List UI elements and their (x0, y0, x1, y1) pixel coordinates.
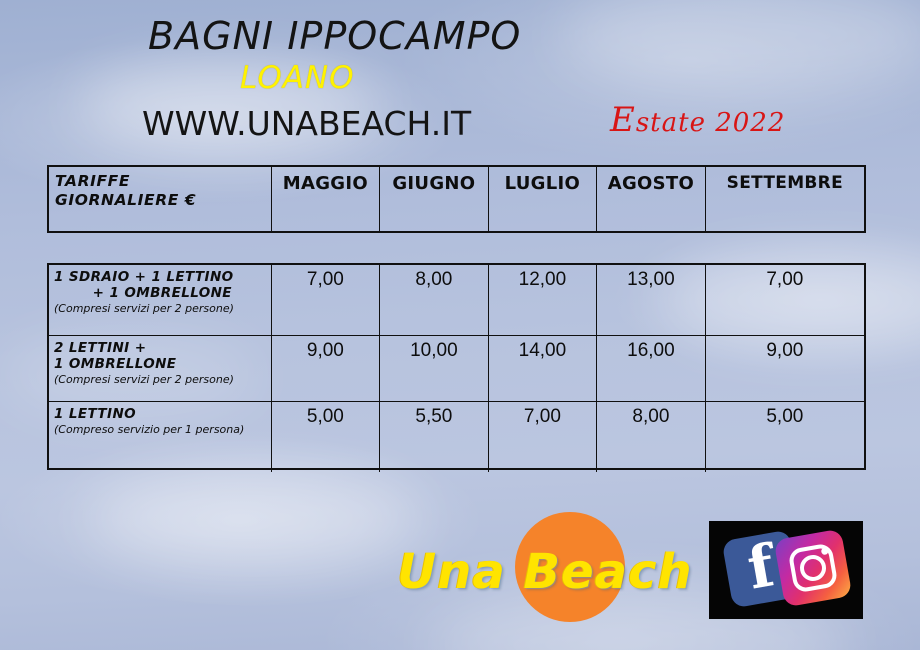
price-cell: 9,00 (271, 335, 380, 401)
header-cell-luglio: LUGLIO (488, 167, 597, 231)
price-value: 16,00 (597, 336, 705, 362)
season-rest: state 2022 (636, 108, 786, 138)
header-label-line1: TARIFFE (55, 172, 271, 191)
row-label-cell: 1 LETTINO (Compreso servizio per 1 perso… (49, 401, 271, 472)
header-label-line2: GIORNALIERE € (55, 191, 271, 210)
row-title-line1: 1 SDRAIO + 1 LETTINO (54, 269, 271, 285)
price-cell: 8,00 (597, 401, 706, 472)
poster-background: BAGNI IPPOCAMPO LOANO WWW.UNABEACH.IT Es… (0, 0, 920, 650)
table-row: 1 LETTINO (Compreso servizio per 1 perso… (49, 401, 864, 472)
price-value: 5,00 (706, 402, 864, 428)
price-value: 7,00 (489, 402, 597, 428)
month-label: MAGGIO (272, 167, 380, 194)
row-title-line2: + 1 OMBRELLONE (54, 285, 271, 301)
price-cell: 7,00 (271, 265, 380, 335)
una-beach-logo: Una Beach (395, 512, 695, 627)
price-cell: 9,00 (705, 335, 864, 401)
price-value: 8,00 (597, 402, 705, 428)
price-cell: 7,00 (488, 401, 597, 472)
month-label: AGOSTO (597, 167, 705, 194)
price-cell: 12,00 (488, 265, 597, 335)
month-label: LUGLIO (489, 167, 597, 194)
season-initial: E (610, 100, 636, 140)
row-title-line1: 1 LETTINO (54, 406, 271, 422)
tariff-table-header: TARIFFE GIORNALIERE € MAGGIO GIUGNO LUGL… (47, 165, 866, 233)
row-title-line2: 1 OMBRELLONE (54, 356, 271, 372)
price-value: 12,00 (489, 265, 597, 291)
row-label-cell: 2 LETTINI + 1 OMBRELLONE (Compresi servi… (49, 335, 271, 401)
row-note: (Compresi servizi per 2 persone) (54, 302, 271, 316)
price-cell: 16,00 (597, 335, 706, 401)
price-cell: 10,00 (380, 335, 489, 401)
price-cell: 14,00 (488, 335, 597, 401)
price-value: 9,00 (272, 336, 380, 362)
header-cell-label: TARIFFE GIORNALIERE € (49, 167, 271, 231)
price-cell: 7,00 (705, 265, 864, 335)
table-row: 1 SDRAIO + 1 LETTINO + 1 OMBRELLONE (Com… (49, 265, 864, 335)
header-cell-maggio: MAGGIO (271, 167, 380, 231)
row-label-cell: 1 SDRAIO + 1 LETTINO + 1 OMBRELLONE (Com… (49, 265, 271, 335)
instagram-glyph-icon[interactable] (774, 529, 853, 608)
price-cell: 5,00 (271, 401, 380, 472)
month-label: GIUGNO (380, 167, 488, 194)
price-value: 9,00 (706, 336, 864, 362)
table-header-row: TARIFFE GIORNALIERE € MAGGIO GIUGNO LUGL… (49, 167, 864, 231)
social-icons-panel[interactable]: f (709, 521, 863, 619)
price-value: 5,50 (380, 402, 488, 428)
month-label: SETTEMBRE (706, 167, 864, 193)
price-cell: 8,00 (380, 265, 489, 335)
header-cell-settembre: SETTEMBRE (705, 167, 864, 231)
row-title-line1: 2 LETTINI + (54, 340, 271, 356)
price-value: 14,00 (489, 336, 597, 362)
price-cell: 13,00 (597, 265, 706, 335)
price-cell: 5,50 (380, 401, 489, 472)
price-value: 7,00 (706, 265, 864, 291)
price-value: 8,00 (380, 265, 488, 291)
table-row: 2 LETTINI + 1 OMBRELLONE (Compresi servi… (49, 335, 864, 401)
header-cell-giugno: GIUGNO (380, 167, 489, 231)
price-cell: 5,00 (705, 401, 864, 472)
price-value: 5,00 (272, 402, 380, 428)
season-label: Estate 2022 (610, 108, 785, 138)
header-cell-agosto: AGOSTO (597, 167, 706, 231)
cloud-veil (90, 470, 420, 565)
logo-text: Una Beach (395, 544, 695, 600)
row-note: (Compreso servizio per 1 persona) (54, 423, 271, 437)
price-value: 10,00 (380, 336, 488, 362)
price-value: 13,00 (597, 265, 705, 291)
poster-heading: BAGNI IPPOCAMPO LOANO WWW.UNABEACH.IT Es… (0, 0, 920, 160)
tariff-table-body: 1 SDRAIO + 1 LETTINO + 1 OMBRELLONE (Com… (47, 263, 866, 470)
price-value: 7,00 (272, 265, 380, 291)
location-subtitle: LOANO (240, 60, 355, 96)
row-note: (Compresi servizi per 2 persone) (54, 373, 271, 387)
website-text: WWW.UNABEACH.IT (142, 104, 471, 143)
page-title: BAGNI IPPOCAMPO (148, 14, 521, 58)
